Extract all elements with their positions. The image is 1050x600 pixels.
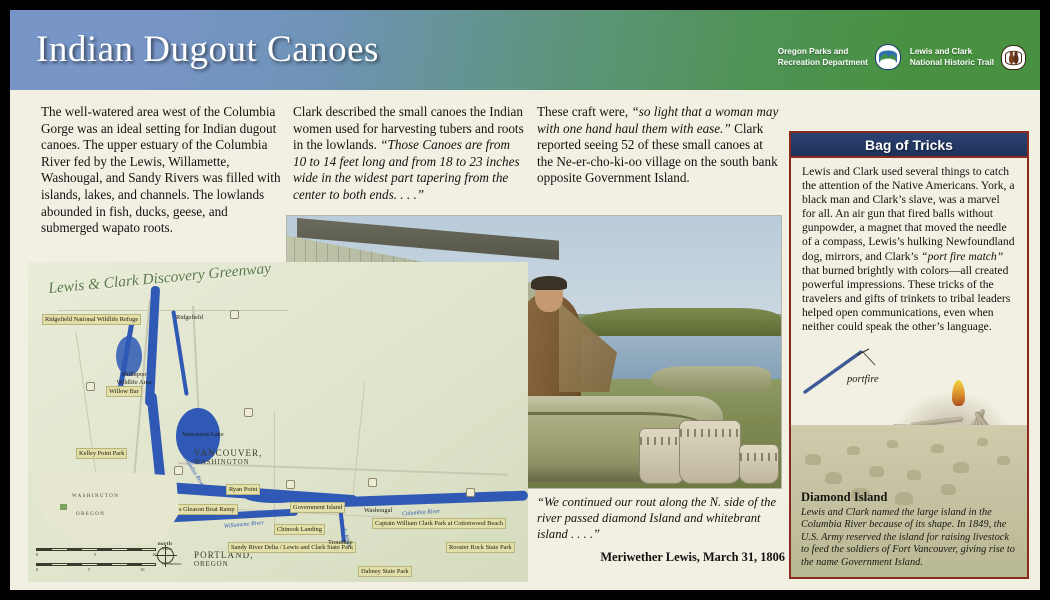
woven-basket [679, 420, 741, 484]
interpretive-sign-panel: Indian Dugout Canoes Oregon Parks and Re… [10, 10, 1040, 590]
highway-shield [244, 408, 253, 417]
highway-shield [368, 478, 377, 487]
road [352, 382, 366, 501]
lewis-journal-quote: “We continued our rout along the N. side… [537, 494, 787, 565]
map-label-ryan-point[interactable]: Ryan Point [226, 484, 260, 495]
lewis-clark-trail-logo-label: Lewis and Clark National Historic Trail [910, 46, 994, 68]
map-label-captain-william-clark-park[interactable]: Captain William Clark Park at Cottonwood… [372, 518, 506, 529]
highway-shield [286, 480, 295, 489]
intro-paragraph-column-3: These craft were, “so light that a woman… [537, 104, 779, 187]
quote-attribution: Meriwether Lewis, March 31, 1806 [537, 549, 787, 565]
oregon-parks-logo [875, 44, 901, 70]
scale-track [36, 548, 156, 551]
map-label-government-island[interactable]: Government Island [290, 502, 345, 513]
city-state: OREGON [194, 560, 254, 568]
background-dugout-canoe [651, 366, 771, 392]
portfire-stick-icon [801, 346, 897, 398]
scale-tick: 0 [36, 567, 38, 572]
state-locator-inset: WASHINGTON OREGON [34, 468, 182, 546]
compass-rose: north [152, 541, 178, 564]
basket-band [680, 429, 740, 437]
map-label-washougal: Washougal [362, 506, 394, 515]
inset-location-marker [60, 504, 67, 510]
tree-line [574, 308, 781, 335]
scale-tick: 5 [94, 552, 96, 557]
map-label-shillapoo: Shillapoo Wildlife Area [114, 370, 154, 387]
river-name-willamette: Willamette River [224, 520, 265, 529]
intro-paragraph-column-2: Clark described the small canoes the Ind… [293, 104, 525, 204]
sidebar-text-part-2: that burned brightly with colors—all cre… [802, 264, 1010, 333]
port-fire-match-term: “port fire match” [921, 250, 1003, 263]
oregon-parks-logo-label: Oregon Parks and Recreation Department [778, 46, 868, 68]
lewis-clark-trail-logo-block: Lewis and Clark National Historic Trail [910, 45, 1026, 70]
city-name: VANCOUVER, [194, 448, 263, 458]
discovery-greenway-map: Lewis & Clark Discovery Greenway VANCOUV… [28, 262, 528, 582]
agency-logos: Oregon Parks and Recreation Department L… [778, 44, 1026, 70]
diamond-island-text: Lewis and Clark named the large island i… [801, 507, 1017, 569]
sidebar-text-part-1: Lewis and Clark used several things to c… [802, 165, 1015, 263]
highway-shield [86, 382, 95, 391]
scale-track [36, 563, 156, 566]
woven-basket [739, 444, 779, 484]
map-label-ridgefield: Ridgefield [174, 313, 205, 322]
basket-band [740, 453, 778, 461]
river-name-columbia: Columbia River [402, 509, 440, 518]
intro-paragraph-column-1: The well-watered area west of the Columb… [41, 104, 282, 237]
side-channel [171, 310, 188, 396]
city-state: WASHINGTON [194, 458, 263, 466]
map-label-kelley-point-park[interactable]: Kelley Point Park [76, 448, 127, 459]
columbia-river [328, 491, 528, 508]
inset-label-washington: WASHINGTON [72, 494, 119, 499]
quote-text: “We continued our rout along the N. side… [537, 494, 787, 542]
map-label-ridgefield-refuge[interactable]: Ridgefield National Wildlife Refuge [42, 314, 141, 325]
column-3-lead-text: These craft were, [537, 104, 631, 119]
city-label-vancouver: VANCOUVER, WASHINGTON [194, 448, 263, 466]
inset-state-outline [34, 468, 182, 546]
lewis-clark-trail-logo [1001, 45, 1026, 70]
portfire-label: portfire [847, 374, 879, 385]
flame [952, 380, 965, 406]
highway-shield [466, 488, 475, 497]
compass-ring-icon [157, 547, 174, 564]
inset-label-oregon: OREGON [76, 512, 105, 517]
columbia-river [145, 286, 160, 406]
woman-hat [531, 276, 567, 290]
map-label-dabney-state-park[interactable]: Dabney State Park [358, 566, 412, 577]
diamond-island-title: Diamond Island [801, 490, 1017, 505]
oregon-parks-logo-block: Oregon Parks and Recreation Department [778, 44, 901, 70]
sidebar-heading: Bag of Tricks [791, 133, 1027, 158]
map-label-chinook-landing[interactable]: Chinook Landing [274, 524, 325, 535]
scale-tick: 10 [140, 567, 144, 572]
scale-tick: 0 [36, 552, 38, 557]
basket-band [640, 437, 684, 445]
page-title: Indian Dugout Canoes [36, 28, 379, 71]
sidebar-body-text: Lewis and Clark used several things to c… [791, 158, 1027, 338]
diamond-island-caption: Diamond Island Lewis and Clark named the… [801, 490, 1017, 569]
diamond-island-photo: Diamond Island Lewis and Clark named the… [791, 425, 1027, 577]
sign-header: Indian Dugout Canoes Oregon Parks and Re… [10, 10, 1040, 90]
road [76, 333, 98, 482]
highway-shield [230, 310, 239, 319]
map-label-willow-bar[interactable]: Willow Bar [106, 386, 142, 397]
map-label-vancouver-lake: Vancouver Lake [180, 430, 226, 439]
bag-of-tricks-sidebar: Bag of Tricks Lewis and Clark used sever… [789, 131, 1029, 579]
scale-tick: 5 [88, 567, 90, 572]
map-label-rooster-rock-state-park[interactable]: Rooster Rock State Park [446, 542, 515, 553]
